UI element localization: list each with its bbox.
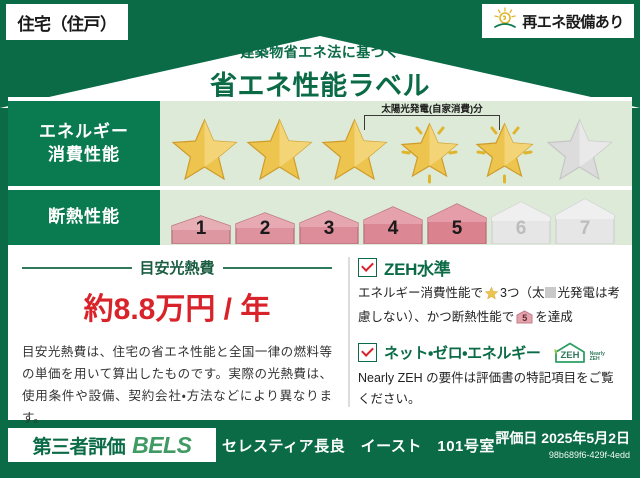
zeh-house-logo-icon: ZEH Nearly ZEH [552,341,605,365]
energy-rating-area: 太陽光発電(自家消費)分 [160,101,632,186]
housing-type-badge: 住宅（住戸） [6,4,128,40]
star-5-filled-solar [468,114,541,184]
insulation-label: 断熱性能 [48,206,120,229]
evaluation-info: 評価日 2025年5月2日 98b689f6-429f-4edd [495,428,630,460]
missing-glyph-box [545,287,556,298]
utility-cost-column: 目安光熱費 約8.8万円 / 年 目安光熱費は、住宅の省エネ性能と全国一律の燃料… [8,249,342,419]
insulation-badge-inline: 5 [516,310,533,324]
solar-bracket-label: 太陽光発電(自家消費)分 [356,101,508,115]
evaluation-date: 評価日 2025年5月2日 [495,428,630,448]
zeh-netzero-block: ネット・ゼロ・エネルギー ZEH Nearly ZEH [358,341,622,411]
renewable-equipment-label: 再エネ設備あり [522,11,624,32]
energy-performance-label-box: エネルギー 消費性能 [8,101,160,186]
insulation-level-2: 2 [234,211,296,244]
zeh-logo-sub2: ZEH [590,356,600,362]
housing-type-label: 住宅（住戸） [18,10,117,35]
insulation-level-3-number: 3 [298,218,360,240]
insulation-performance-row: 断熱性能 1 2 3 [8,190,632,245]
insulation-level-3: 3 [298,209,360,244]
zeh-standard-block: ZEH水準 エネルギー消費性能で3つ（太光発電は考慮しない）、かつ断熱性能で5を… [358,255,622,329]
lower-content: 目安光熱費 約8.8万円 / 年 目安光熱費は、住宅の省エネ性能と全国一律の燃料… [8,249,632,419]
bels-jp-label: 第三者評価 [33,432,126,459]
checkbox-checked-icon [358,258,377,277]
star-3-filled [318,114,391,184]
insulation-level-5-number: 5 [426,218,488,240]
star-1-filled [168,114,241,184]
zeh-body-part4: を達成 [535,310,573,324]
insulation-scale: 1 2 3 4 5 [170,197,616,244]
zeh-netzero-heading: ネット・ゼロ・エネルギー ZEH Nearly ZEH [358,341,622,365]
insulation-level-6-number: 6 [490,218,552,240]
insulation-level-1-number: 1 [170,218,232,240]
star-2-filled [243,114,316,184]
renewable-equipment-badge: 再エネ設備あり [482,4,634,38]
heading-rule-right [223,267,333,269]
zeh-logo-subtext: Nearly ZEH [590,352,605,365]
label-footer: 第三者評価 BELS セレスティア長良 イースト 101号室 評価日 2025年… [0,424,640,478]
star-4-filled-solar [393,114,466,184]
insulation-level-7: 7 [554,197,616,244]
insulation-level-5: 5 [426,202,488,244]
insulation-level-4: 4 [362,205,424,244]
property-name: セレスティア長良 イースト 101号室 [222,435,495,456]
zeh-netzero-body: Nearly ZEH の要件は評価書の特記項目をご覧ください。 [358,368,622,411]
energy-performance-row: エネルギー 消費性能 太陽光発電(自家消費)分 [8,101,632,186]
utility-cost-note: 目安光熱費は、住宅の省エネ性能と全国一律の燃料等の単価を用いて算出したものです。… [22,342,332,430]
insulation-level-6: 6 [490,200,552,244]
zeh-netzero-title: ネット・ゼロ・エネルギー [384,342,541,363]
svg-text:ZEH: ZEH [560,350,579,361]
evaluation-hash: 98b689f6-429f-4edd [495,450,630,460]
bels-en-label: BELS [132,432,191,459]
insulation-performance-label-box: 断熱性能 [8,190,160,245]
energy-label-line1: エネルギー [39,121,129,144]
utility-cost-value: 約8.8万円 / 年 [22,284,332,328]
zeh-column: ZEH水準 エネルギー消費性能で3つ（太光発電は考慮しない）、かつ断熱性能で5を… [342,249,632,419]
zeh-standard-title: ZEH水準 [384,255,451,280]
sun-solar-icon [492,7,518,36]
energy-label-line2: 消費性能 [48,144,120,167]
star-icon-inline [484,286,499,307]
star-6-empty [543,114,616,184]
zeh-standard-body: エネルギー消費性能で3つ（太光発電は考慮しない）、かつ断熱性能で5を達成 [358,283,622,329]
utility-cost-heading: 目安光熱費 [22,257,332,278]
bels-logo: 第三者評価 BELS [8,428,216,462]
insulation-badge-number: 5 [516,313,533,324]
utility-cost-heading-label: 目安光熱費 [140,257,215,278]
star-rating [168,114,616,184]
zeh-body-part2: 3つ（太 [500,286,544,300]
insulation-rating-area: 1 2 3 4 5 [160,190,632,245]
label-body-panel: エネルギー 消費性能 太陽光発電(自家消費)分 [8,97,632,420]
insulation-level-2-number: 2 [234,218,296,240]
zeh-standard-heading: ZEH水準 [358,255,622,280]
checkbox-checked-icon-2 [358,343,377,362]
energy-performance-label: 住宅（住戸） 再エネ設備あり 建築物省エネ法に基づく 省エネ性能ラベル [0,0,640,478]
insulation-level-7-number: 7 [554,218,616,240]
insulation-level-4-number: 4 [362,218,424,240]
heading-rule-left [22,267,132,269]
insulation-level-1: 1 [170,214,232,244]
zeh-body-part1: エネルギー消費性能で [358,286,483,300]
